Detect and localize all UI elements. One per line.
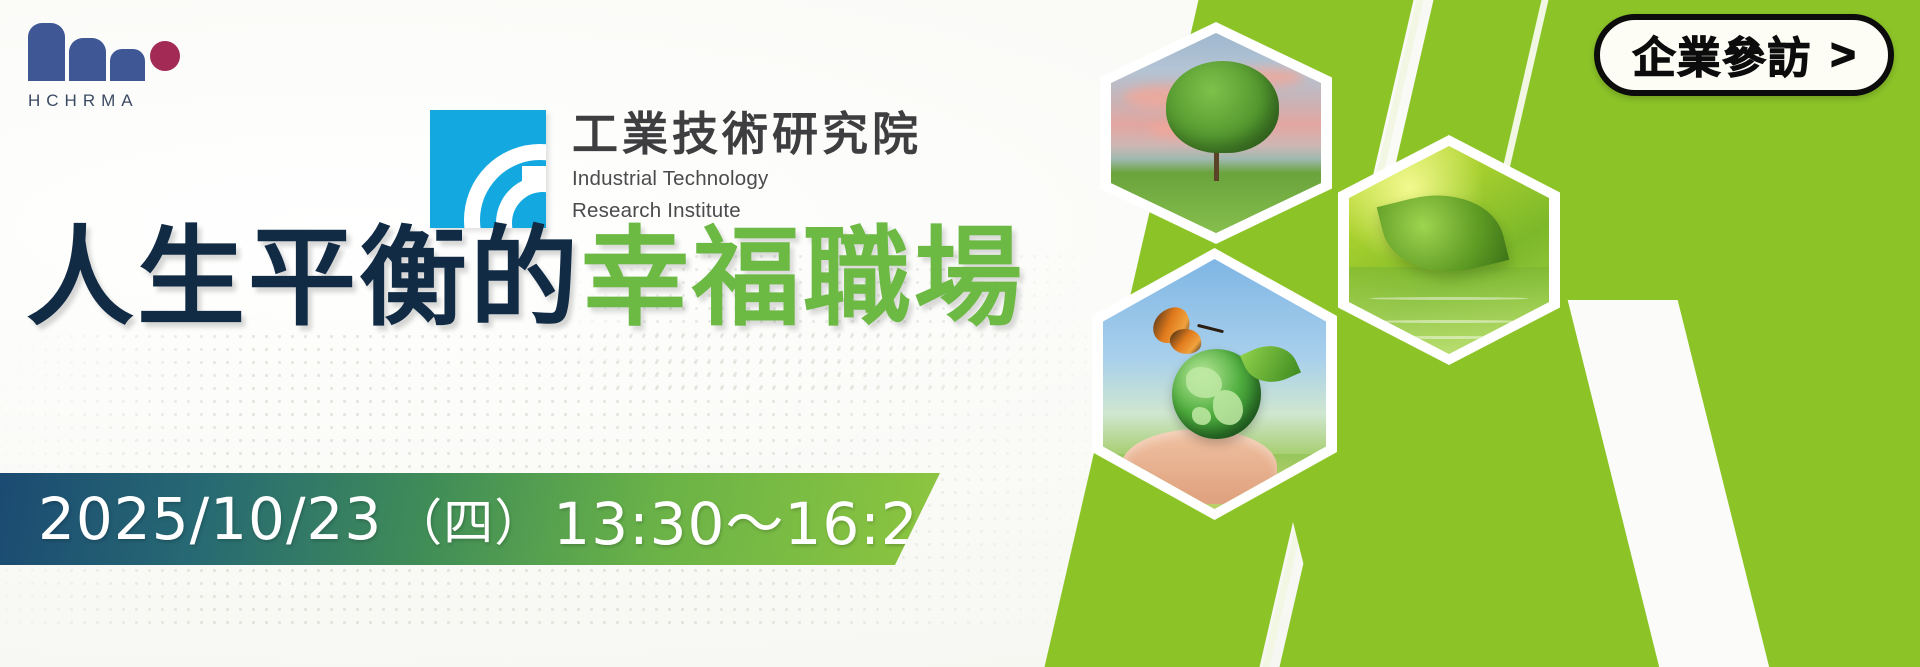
hex-photo-tree-inner [1111,33,1321,233]
itri-stem-icon [522,166,546,192]
headline: 人生平衡的幸福職場 [26,225,1025,333]
photo-leaf-water [1349,146,1549,354]
itri-name-block: 工業技術研究院 Industrial Technology Research I… [572,110,922,224]
itri-mark-icon [430,110,546,228]
hchrma-wordmark: HCHRMA [28,91,139,111]
hchrma-bar-1-icon [28,23,65,81]
headline-part-navy: 人生平衡的 [26,216,581,341]
hex-photo-globe-inner [1103,259,1326,509]
corporate-visit-button[interactable]: 企業參訪 > [1594,14,1894,96]
itri-name-en-line1: Industrial Technology [572,166,922,192]
photo-tree-meadow [1111,33,1321,233]
event-weekday: （四） [392,483,545,555]
decorative-right-panel [1000,0,1920,667]
itri-name-cn: 工業技術研究院 [572,110,922,159]
hchrma-bar-3-icon [110,49,145,81]
corporate-visit-label: 企業參訪 [1632,24,1812,86]
hex-photo-leaf-inner [1349,146,1549,354]
event-date: 2025/10/23 [38,485,382,553]
photo-butterfly-globe-hand [1103,259,1326,509]
event-time: 13:30〜16:20 [553,477,956,561]
chevron-right-icon: > [1830,31,1855,80]
hchrma-bar-2-icon [69,38,106,81]
event-banner: 企業參訪 > HCHRMA 工業技術研究院 Industrial Technol… [0,0,1920,667]
event-datetime-bar: 2025/10/23 （四） 13:30〜16:20 [0,473,940,565]
itri-logo[interactable]: 工業技術研究院 Industrial Technology Research I… [430,110,922,228]
hchrma-dot-icon [150,41,180,71]
hchrma-logo[interactable]: HCHRMA [12,10,182,115]
headline-part-green: 幸福職場 [581,216,1025,341]
